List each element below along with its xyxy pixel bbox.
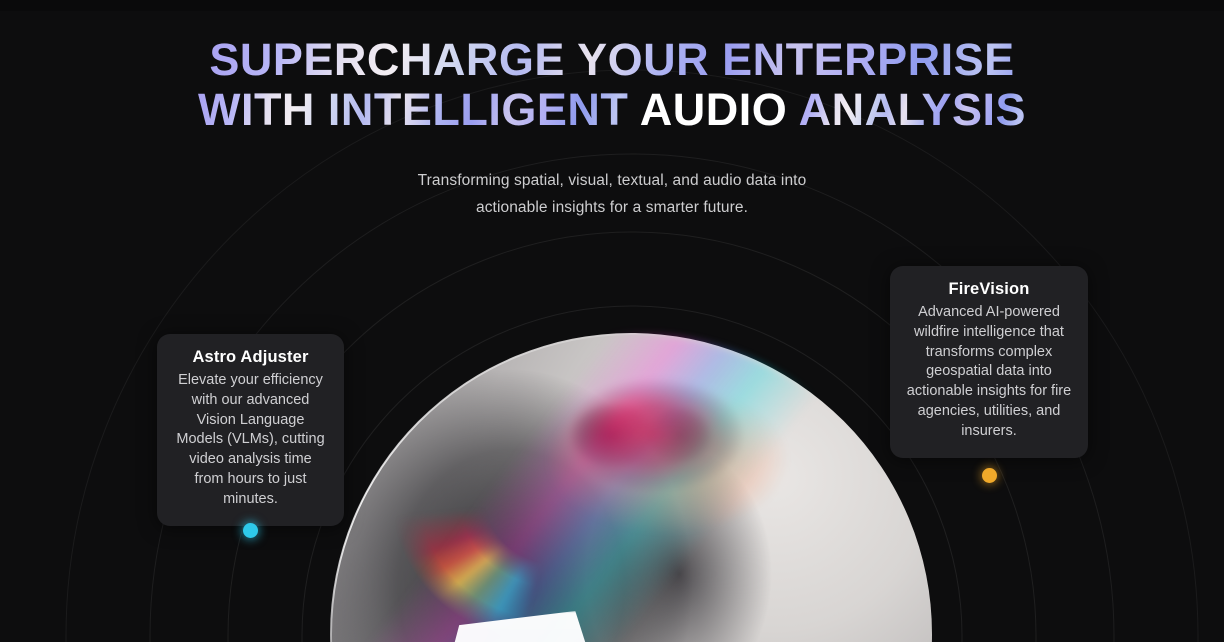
- orbit-ring-1: [370, 374, 894, 642]
- hero-subtitle: Transforming spatial, visual, textual, a…: [0, 167, 1224, 221]
- feature-card-astro-adjuster[interactable]: Astro Adjuster Elevate your efficiency w…: [157, 334, 344, 526]
- headline-text-supercharge: SUPERCHARGE YOUR ENTERPRISE: [209, 34, 1014, 85]
- sphere-blue-violet-mass: [330, 333, 932, 642]
- card-description-firevision: Advanced AI-powered wildfire intelligenc…: [906, 303, 1072, 442]
- sphere-red-caustic: [330, 333, 932, 642]
- feature-card-firevision[interactable]: FireVision Advanced AI-powered wildfire …: [890, 266, 1088, 458]
- card-title-firevision: FireVision: [906, 280, 1072, 299]
- top-strip: [0, 0, 1224, 11]
- card-description-astro-adjuster: Elevate your efficiency with our advance…: [173, 371, 328, 510]
- sphere-rainbow-arc: [330, 333, 932, 642]
- sphere-base: [330, 333, 932, 642]
- sphere-chromatic-streak: [330, 333, 932, 642]
- orbit-ring-2: [302, 306, 962, 642]
- orbit-dot-amber[interactable]: [982, 468, 997, 483]
- orbit-dot-cyan[interactable]: [243, 523, 258, 538]
- headline-text-analysis: ANALYSIS: [799, 84, 1026, 135]
- sphere-rim-light: [330, 333, 932, 642]
- headline-text-with-intelligent: WITH INTELLIGENT: [198, 84, 628, 135]
- hero-subtitle-line-1: Transforming spatial, visual, textual, a…: [0, 167, 1224, 194]
- page-title: SUPERCHARGE YOUR ENTERPRISE WITH INTELLI…: [0, 38, 1224, 132]
- card-title-astro-adjuster: Astro Adjuster: [173, 348, 328, 367]
- iridescent-sphere: [330, 333, 932, 642]
- sphere-dark-smudge: [330, 333, 932, 642]
- headline-line-1: SUPERCHARGE YOUR ENTERPRISE: [0, 38, 1224, 82]
- headline-text-audio: AUDIO: [640, 84, 788, 135]
- headline-line-2: WITH INTELLIGENT AUDIO ANALYSIS: [0, 88, 1224, 132]
- hero-section: SUPERCHARGE YOUR ENTERPRISE WITH INTELLI…: [0, 0, 1224, 642]
- sphere-vignette: [330, 333, 932, 642]
- hero-subtitle-line-2: actionable insights for a smarter future…: [0, 194, 1224, 221]
- sphere-white-shard: [442, 611, 657, 642]
